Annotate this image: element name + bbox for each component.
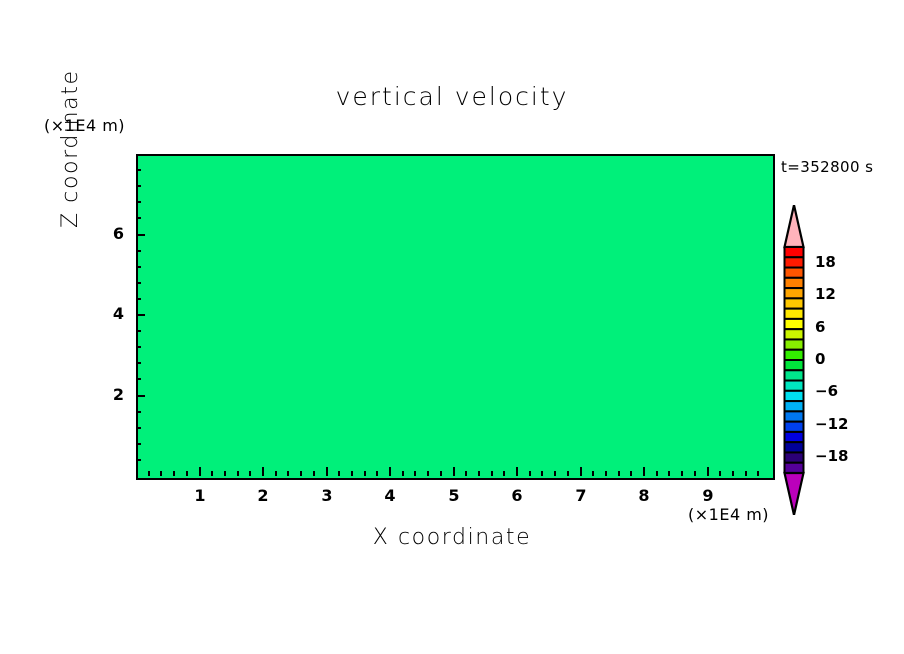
x-tick-minor — [287, 471, 289, 476]
x-tick-minor — [656, 471, 658, 476]
z-tick-minor — [136, 185, 141, 187]
colorbar-band — [785, 288, 804, 298]
vertical-velocity-field — [138, 156, 773, 478]
x-tick-minor — [605, 471, 607, 476]
colorbar-band — [785, 278, 804, 288]
z-tick-minor — [136, 362, 141, 364]
x-tick-minor — [630, 471, 632, 476]
x-tick-minor — [592, 471, 594, 476]
x-tick-minor — [529, 471, 531, 476]
x-tick-minor — [402, 471, 404, 476]
colorbar-band — [785, 452, 804, 462]
x-tick-major — [707, 467, 709, 476]
z-tick-major — [136, 234, 145, 236]
x-tick-minor — [211, 471, 213, 476]
colorbar-band — [785, 401, 804, 411]
z-tick-minor — [136, 411, 141, 413]
x-tick-major — [326, 467, 328, 476]
time-annotation: t=352800 s — [781, 158, 873, 176]
page-title: vertical velocity — [0, 82, 904, 111]
x-tick-major — [199, 467, 201, 476]
z-tick-minor — [136, 427, 141, 429]
x-tick-label: 9 — [693, 486, 723, 505]
z-tick-minor — [136, 459, 141, 461]
x-tick-minor — [618, 471, 620, 476]
x-tick-major — [262, 467, 264, 476]
colorbar-band — [785, 360, 804, 370]
colorbar — [783, 205, 805, 515]
x-tick-label: 6 — [502, 486, 532, 505]
z-tick-minor — [136, 169, 141, 171]
z-tick-minor — [136, 201, 141, 203]
x-tick-minor — [148, 471, 150, 476]
colorbar-tick-label: 0 — [815, 350, 825, 368]
x-tick-minor — [478, 471, 480, 476]
x-tick-label: 3 — [312, 486, 342, 505]
colorbar-tick-label: −12 — [815, 415, 848, 433]
colorbar-band — [785, 247, 804, 257]
z-tick-label: 2 — [94, 385, 124, 404]
z-tick-minor — [136, 330, 141, 332]
x-tick-minor — [541, 471, 543, 476]
x-tick-minor — [440, 471, 442, 476]
x-tick-minor — [567, 471, 569, 476]
colorbar-swatches — [783, 205, 805, 515]
x-tick-minor — [186, 471, 188, 476]
x-tick-minor — [465, 471, 467, 476]
x-tick-minor — [338, 471, 340, 476]
x-tick-minor — [681, 471, 683, 476]
x-tick-minor — [224, 471, 226, 476]
z-tick-minor — [136, 378, 141, 380]
z-tick-minor — [136, 250, 141, 252]
x-tick-label: 4 — [375, 486, 405, 505]
x-tick-minor — [745, 471, 747, 476]
z-tick-minor — [136, 443, 141, 445]
x-tick-minor — [376, 471, 378, 476]
x-tick-minor — [313, 471, 315, 476]
colorbar-band — [785, 463, 804, 473]
colorbar-band — [785, 339, 804, 349]
x-tick-label: 8 — [629, 486, 659, 505]
x-tick-minor — [275, 471, 277, 476]
contour-plot-area — [136, 154, 775, 480]
colorbar-tick-label: −6 — [815, 382, 838, 400]
x-tick-minor — [249, 471, 251, 476]
x-tick-major — [389, 467, 391, 476]
colorbar-band — [785, 329, 804, 339]
x-tick-label: 5 — [439, 486, 469, 505]
x-tick-major — [580, 467, 582, 476]
colorbar-band — [785, 411, 804, 421]
x-tick-minor — [554, 471, 556, 476]
x-tick-minor — [237, 471, 239, 476]
colorbar-band — [785, 381, 804, 391]
colorbar-band — [785, 309, 804, 319]
x-tick-minor — [757, 471, 759, 476]
colorbar-tick-label: 12 — [815, 285, 836, 303]
x-tick-label: 2 — [248, 486, 278, 505]
x-tick-minor — [732, 471, 734, 476]
x-tick-minor — [719, 471, 721, 476]
colorbar-band — [785, 319, 804, 329]
x-tick-minor — [173, 471, 175, 476]
x-tick-label: 1 — [185, 486, 215, 505]
colorbar-band — [785, 257, 804, 267]
x-tick-minor — [491, 471, 493, 476]
colorbar-tick-label: 18 — [815, 253, 836, 271]
colorbar-tick-label: 6 — [815, 318, 825, 336]
colorbar-band — [785, 391, 804, 401]
x-tick-label: 7 — [566, 486, 596, 505]
x-tick-minor — [503, 471, 505, 476]
z-axis-title: Z coordinate — [58, 28, 83, 228]
x-tick-minor — [668, 471, 670, 476]
z-tick-minor — [136, 282, 141, 284]
z-tick-label: 6 — [94, 224, 124, 243]
colorbar-band — [785, 432, 804, 442]
colorbar-band — [785, 298, 804, 308]
x-tick-minor — [300, 471, 302, 476]
x-axis-unit-label: (×1E4 m) — [688, 505, 769, 524]
x-tick-minor — [364, 471, 366, 476]
x-tick-major — [643, 467, 645, 476]
colorbar-band — [785, 370, 804, 380]
colorbar-over-arrow — [785, 205, 804, 247]
x-tick-minor — [427, 471, 429, 476]
z-axis-unit-label: (×1E4 m) — [44, 116, 125, 135]
x-tick-minor — [414, 471, 416, 476]
z-axis-title-text: Z coordinate — [58, 28, 83, 228]
x-axis-title: X coordinate — [0, 525, 904, 550]
colorbar-band — [785, 268, 804, 278]
x-tick-major — [453, 467, 455, 476]
z-tick-major — [136, 314, 145, 316]
x-tick-minor — [351, 471, 353, 476]
colorbar-band — [785, 442, 804, 452]
x-tick-major — [516, 467, 518, 476]
z-tick-label: 4 — [94, 304, 124, 323]
x-tick-minor — [160, 471, 162, 476]
colorbar-under-arrow — [785, 473, 804, 515]
z-tick-minor — [136, 217, 141, 219]
x-tick-minor — [694, 471, 696, 476]
z-tick-minor — [136, 266, 141, 268]
z-tick-major — [136, 395, 145, 397]
colorbar-band — [785, 350, 804, 360]
z-tick-minor — [136, 346, 141, 348]
colorbar-tick-label: −18 — [815, 447, 848, 465]
colorbar-band — [785, 422, 804, 432]
z-tick-minor — [136, 298, 141, 300]
